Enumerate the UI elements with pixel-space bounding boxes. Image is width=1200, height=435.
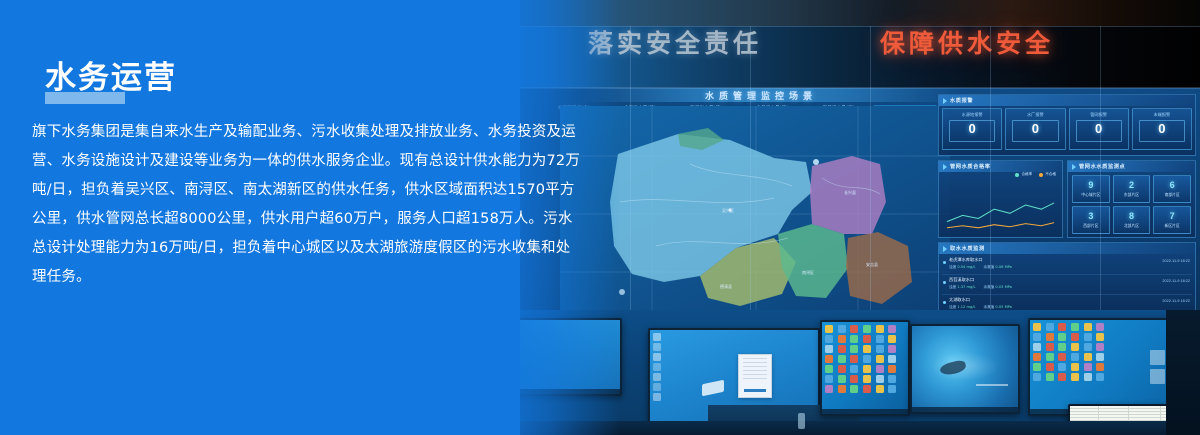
map-region-changxing	[810, 156, 886, 234]
monitoring-point-grid: 9 中心城片区 2 东部片区 6 南部片区 3	[1072, 175, 1191, 234]
log-timestamp: 2022-11-9 18:22	[1162, 279, 1190, 283]
document-window[interactable]	[738, 354, 772, 398]
panel-header: 水质报警	[939, 95, 1195, 106]
point-label: 中心城片区	[1081, 192, 1100, 198]
wall-seam	[1100, 26, 1101, 320]
alarm-card-value: 0	[1070, 122, 1128, 135]
alarm-card[interactable]: 管网报警 0	[1069, 108, 1129, 150]
log-timestamp: 2022-11-9 18:22	[1162, 259, 1190, 263]
desk-edge	[520, 421, 1200, 435]
point-count: 3	[1088, 212, 1093, 221]
point-count: 9	[1088, 181, 1093, 190]
wall-seam	[990, 26, 991, 320]
log-timestamp: 2022-11-9 18:22	[1162, 299, 1190, 303]
log-metric-2: 余氯值 0.06 MPa	[983, 265, 1011, 270]
alarm-card[interactable]: 末端报警 0	[1132, 108, 1192, 150]
folder-icon	[702, 380, 724, 397]
panel-pipeline-quality-rate: 管网水质合格率 合格率 不合格	[938, 160, 1063, 238]
monitoring-point-cell[interactable]: 8 北部片区	[1113, 206, 1151, 234]
alarm-card-value: 0	[1133, 122, 1191, 135]
rate-line-chart	[943, 174, 1058, 234]
panel-monitoring-points: 管网水水质监测点 9 中心城片区 2 东部片区 6 南部片	[1067, 160, 1196, 238]
ceiling-band	[520, 0, 1200, 26]
intake-log-list: 老虎潭水库取水口 2022-11-9 18:22 浊度 0.54 mg/L 余氯…	[942, 255, 1192, 315]
panel-header: 管网水水质监测点	[1068, 161, 1195, 172]
log-metric-2: 余氯值 0.03 MPa	[983, 285, 1011, 290]
map-label-anji: 安吉县	[866, 261, 878, 267]
panel-title: 取水水质监测	[950, 245, 985, 252]
panel-intake-water-quality: 取水水质监测 老虎潭水库取水口 2022-11-9 18:22 浊度 0.54 …	[938, 242, 1196, 318]
text-content: 水务运营 旗下水务集团是集自来水生产及输配业务、污水收集处理及排放业务、水务投资…	[0, 0, 600, 435]
point-label: 新区片区	[1165, 223, 1180, 229]
wall-seam	[630, 26, 631, 320]
log-metric-1: 浊度 1.37 mg/L	[949, 285, 975, 290]
desktop-icons[interactable]	[825, 325, 899, 393]
point-label: 南部片区	[1165, 192, 1180, 198]
log-name: 西苕溪取水口	[949, 277, 1192, 283]
desktop-icon-column	[653, 333, 665, 401]
log-metrics: 浊度 0.54 mg/L 余氯值 0.06 MPa	[949, 265, 1192, 270]
alarm-card-value: 0	[943, 122, 1001, 135]
monitoring-point-cell[interactable]: 7 新区片区	[1153, 206, 1191, 234]
log-row[interactable]: 老虎潭水库取水口 2022-11-9 18:22 浊度 0.54 mg/L 余氯…	[942, 257, 1192, 275]
alarm-card[interactable]: 水源地报警 0	[942, 108, 1002, 150]
monitoring-point-cell[interactable]: 3 西部片区	[1072, 206, 1110, 234]
promo-banner: 落实安全责任 保障供水安全 水质管理监控场景 水质监测点(个) 今日供水量(吨)…	[0, 0, 1200, 435]
wall-seam	[870, 26, 871, 320]
monitor-screen	[912, 326, 1018, 412]
point-count: 2	[1129, 181, 1134, 190]
alarm-card-value: 0	[1006, 122, 1064, 135]
map-label-deqing: 德清县	[720, 283, 732, 289]
taskbar	[912, 407, 1018, 412]
map-label-changxing: 长兴县	[844, 189, 856, 195]
alarm-card-label: 末端报警	[1133, 112, 1191, 118]
map-label-nanxun: 南浔区	[802, 269, 814, 275]
document-footer-bar	[744, 389, 766, 392]
triangle-icon	[943, 164, 947, 170]
log-metrics: 浊度 1.37 mg/L 余氯值 0.03 MPa	[949, 285, 1192, 290]
point-label: 西部片区	[1083, 223, 1098, 229]
triangle-icon	[943, 246, 947, 252]
desktop-icons[interactable]	[1033, 323, 1107, 381]
monitoring-point-cell[interactable]: 9 中心城片区	[1072, 175, 1110, 203]
point-count: 8	[1129, 212, 1134, 221]
dashboard-side-panels: 水质报警 水源地报警 0 水厂报警 0	[938, 94, 1196, 320]
control-room-photo: 落实安全责任 保障供水安全 水质管理监控场景 水质监测点(个) 今日供水量(吨)…	[520, 0, 1200, 435]
log-metric-1: 浊度 0.54 mg/L	[949, 265, 975, 270]
monitoring-point-cell[interactable]: 2 东部片区	[1113, 175, 1151, 203]
point-count: 7	[1170, 212, 1175, 221]
log-name: 老虎潭水库取水口	[949, 257, 1192, 263]
log-name: 太湖取水口	[949, 297, 1192, 303]
monitoring-point-cell[interactable]: 6 南部片区	[1153, 175, 1191, 203]
triangle-icon	[1072, 164, 1076, 170]
monitor-icon-grid[interactable]	[820, 320, 910, 416]
point-count: 6	[1170, 181, 1175, 190]
map-label-wuxing: 吴兴区	[722, 207, 734, 213]
panel-header: 取水水质监测	[939, 243, 1195, 254]
monitor-screen	[822, 322, 908, 414]
point-label: 东部片区	[1124, 192, 1139, 198]
page-title: 水务运营	[45, 52, 177, 97]
triangle-icon	[943, 98, 947, 104]
title-underline-bar	[45, 92, 125, 104]
panel-header: 管网水质合格率	[939, 161, 1062, 172]
log-row[interactable]: 西苕溪取水口 2022-11-9 18:22 浊度 1.37 mg/L 余氯值 …	[942, 277, 1192, 295]
alarm-card-label: 水厂报警	[1006, 112, 1064, 118]
bullet-icon	[943, 261, 946, 264]
description-paragraph: 旗下水务集团是集自来水生产及输配业务、污水收集处理及排放业务、水务投资及运营、水…	[32, 118, 582, 292]
operator-desks	[520, 310, 1200, 435]
console-column-right	[1166, 310, 1200, 435]
bullet-icon	[943, 281, 946, 284]
panel-water-quality-alarm: 水质报警 水源地报警 0 水厂报警 0	[938, 94, 1196, 156]
alarm-card-label: 水源地报警	[943, 112, 1001, 118]
bullet-icon	[943, 301, 946, 304]
point-label: 北部片区	[1124, 223, 1139, 229]
alarm-card[interactable]: 水厂报警 0	[1005, 108, 1065, 150]
dashboard-title: 水质管理监控场景	[646, 89, 876, 102]
alarm-card-label: 管网报警	[1070, 112, 1128, 118]
taskbar	[822, 409, 908, 414]
monitor-ocean-wallpaper[interactable]	[910, 324, 1020, 414]
wallpaper-caption-bar	[976, 384, 1008, 386]
water-bottle	[798, 413, 805, 429]
wall-seam	[750, 26, 751, 320]
slogan-right: 保障供水安全	[880, 24, 1054, 60]
section-description: 旗下水务集团是集自来水生产及输配业务、污水收集处理及排放业务、水务投资及运营、水…	[32, 118, 582, 292]
panel-title: 管网水质合格率	[950, 163, 991, 170]
alarm-card-row: 水源地报警 0 水厂报警 0 管网报警 0	[942, 108, 1192, 150]
water-quality-dashboard: 水质管理监控场景 水质监测点(个) 今日供水量(吨) 昨日供水量(吨) 今日用水…	[520, 88, 1200, 320]
panel-title: 管网水水质监测点	[1079, 163, 1125, 170]
panel-title: 水质报警	[950, 97, 973, 104]
